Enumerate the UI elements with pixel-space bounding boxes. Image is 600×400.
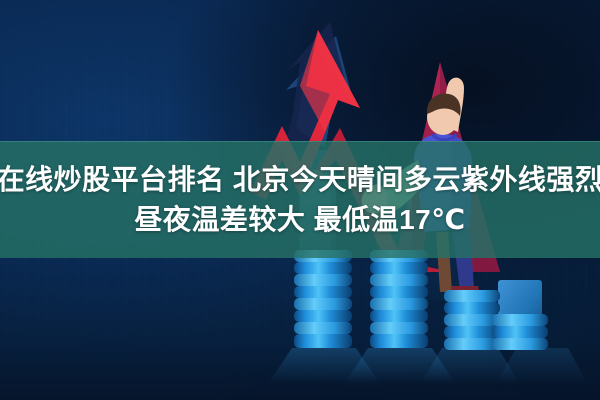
headline-band xyxy=(0,141,600,258)
coin-stack-2 xyxy=(370,250,428,348)
coin-stack-3 xyxy=(444,290,500,350)
coin-stack-floor-glows xyxy=(268,348,588,384)
weather-news-banner-image: 在线炒股平台排名 北京今天晴间多云紫外线强烈 昼夜温差较大 最低温17℃ xyxy=(0,0,600,400)
band-top-divider xyxy=(0,141,600,142)
coin-stack-4 xyxy=(492,314,548,350)
coin-stack-1 xyxy=(294,250,352,348)
